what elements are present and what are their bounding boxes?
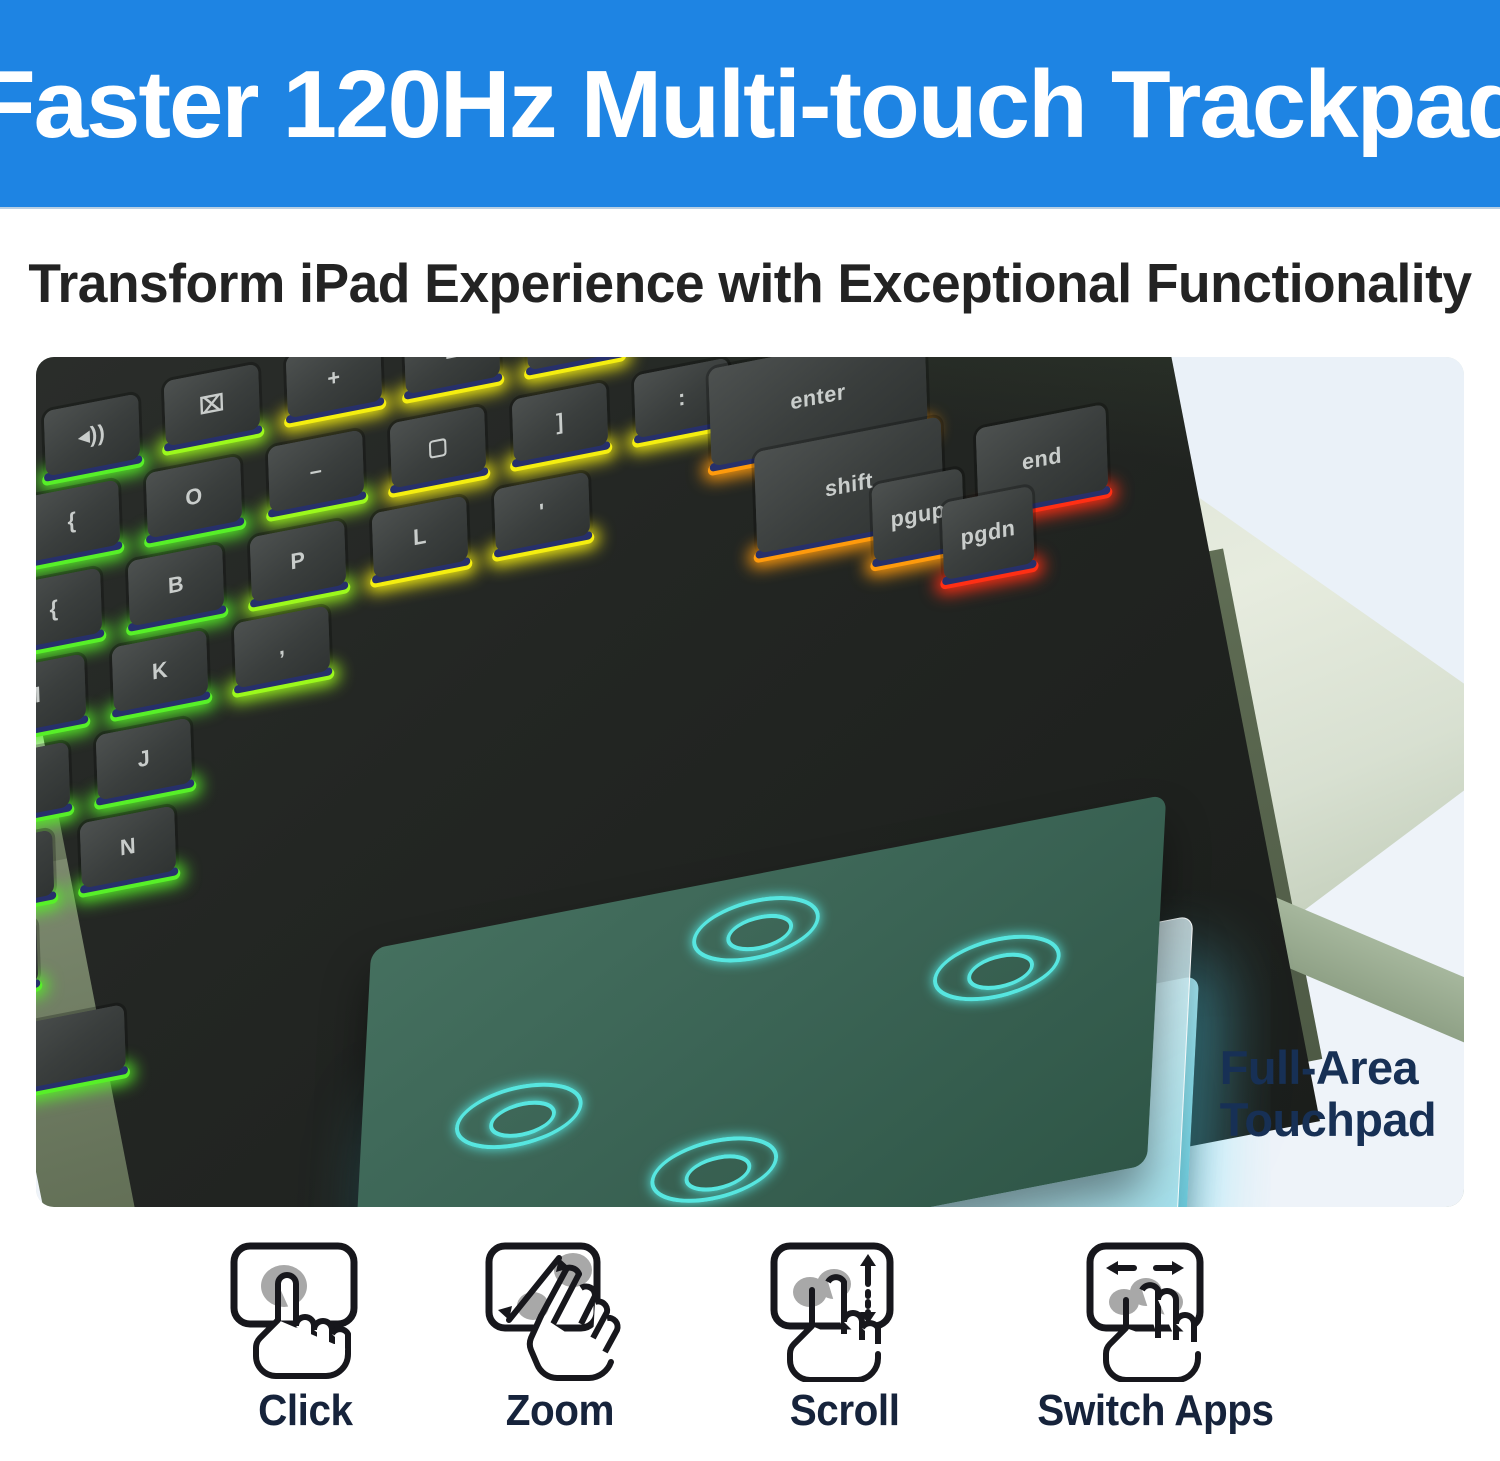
touch-ring-icon bbox=[453, 1073, 584, 1160]
key-lock: ⌧ bbox=[164, 363, 260, 446]
key-brace: { bbox=[36, 567, 102, 650]
key-o-alt: ▢ bbox=[390, 405, 486, 488]
key-u: U bbox=[36, 741, 70, 824]
key-equals: = bbox=[404, 357, 500, 395]
gesture-legend: Click Zoom bbox=[0, 1240, 1500, 1461]
key-i: I bbox=[36, 653, 86, 736]
callout-line-2: Touchpad bbox=[1220, 1094, 1436, 1147]
three-finger-horizontal-swipe-icon bbox=[1060, 1240, 1250, 1382]
key-h: H bbox=[36, 829, 54, 912]
two-finger-pinch-icon bbox=[475, 1240, 645, 1382]
product-photo: ◂)) ⌧ + = [ { O – ▢ ] : { B P L ' I K , … bbox=[36, 357, 1464, 1207]
gesture-item-zoom: Zoom bbox=[430, 1240, 690, 1436]
touch-ring-icon bbox=[931, 925, 1062, 1012]
key-n: N bbox=[80, 805, 176, 888]
key-j: J bbox=[96, 717, 192, 800]
key-o: O bbox=[146, 455, 242, 538]
key-k: K bbox=[112, 629, 208, 712]
page-title: Faster 120Hz Multi-touch Trackpad bbox=[0, 57, 1500, 153]
key-comma: , bbox=[234, 605, 330, 688]
key-dash: – bbox=[268, 429, 364, 512]
key-l: L bbox=[372, 495, 468, 578]
gesture-label: Scroll bbox=[790, 1386, 900, 1436]
key-bracket: [ bbox=[526, 357, 622, 371]
gesture-item-click: Click bbox=[175, 1240, 435, 1436]
subtitle-text: Transform iPad Experience with Exception… bbox=[28, 251, 1471, 315]
key-b: B bbox=[128, 543, 224, 626]
callout-line-1: Full-Area bbox=[1220, 1042, 1436, 1095]
key-bracket-right: ] bbox=[512, 381, 608, 462]
full-area-touchpad-callout: Full-Area Touchpad bbox=[1220, 1042, 1436, 1147]
key-pgdn: pgdn bbox=[942, 486, 1035, 580]
one-finger-tap-icon bbox=[220, 1240, 390, 1382]
key-v: V bbox=[36, 917, 38, 1000]
gesture-item-switch-apps: Switch Apps bbox=[1025, 1240, 1285, 1436]
two-finger-vertical-swipe-icon bbox=[760, 1240, 930, 1382]
key-space bbox=[36, 1004, 126, 1094]
gesture-item-scroll: Scroll bbox=[715, 1240, 975, 1436]
key-quote: ' bbox=[494, 471, 590, 552]
key-plus: + bbox=[286, 357, 382, 419]
subtitle-row: Transform iPad Experience with Exception… bbox=[0, 209, 1500, 357]
gesture-label: Switch Apps bbox=[1037, 1386, 1273, 1436]
product-feature-page: Faster 120Hz Multi-touch Trackpad Transf… bbox=[0, 0, 1500, 1461]
gesture-label: Zoom bbox=[506, 1386, 614, 1436]
touch-ring-icon bbox=[691, 886, 822, 973]
header-banner: Faster 120Hz Multi-touch Trackpad bbox=[0, 0, 1500, 209]
key-bracket-left: { bbox=[36, 479, 120, 562]
touch-ring-icon bbox=[649, 1126, 780, 1207]
key-mute: ◂)) bbox=[44, 393, 140, 476]
key-p: P bbox=[250, 519, 346, 602]
gesture-label: Click bbox=[258, 1386, 352, 1436]
